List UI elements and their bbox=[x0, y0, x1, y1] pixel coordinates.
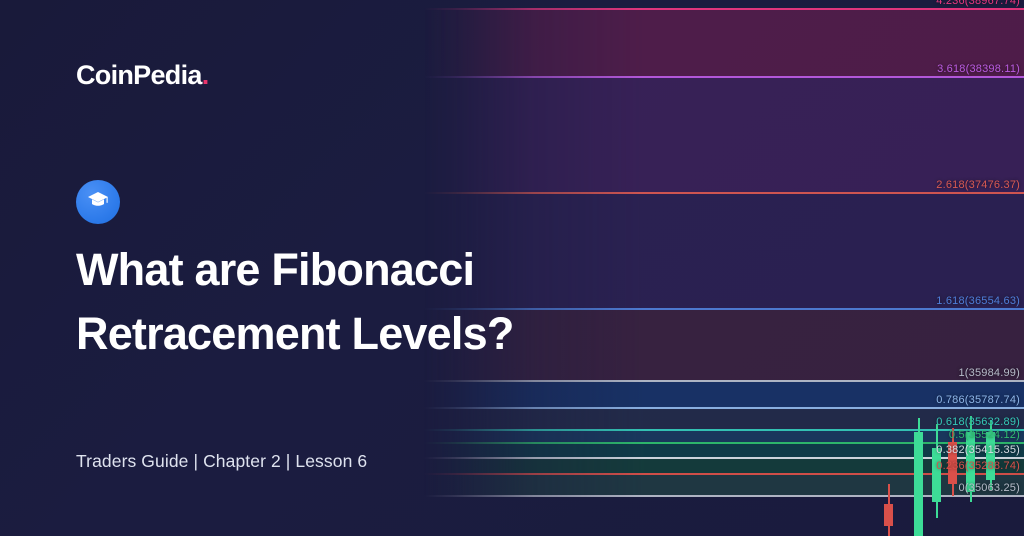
fib-level-line bbox=[424, 76, 1024, 78]
fib-band bbox=[424, 76, 1024, 192]
breadcrumb: Traders Guide | Chapter 2 | Lesson 6 bbox=[76, 451, 367, 472]
candle-body bbox=[884, 504, 893, 526]
fib-level-label: 4.236(38967.74) bbox=[936, 0, 1020, 7]
fib-level-label: 1.618(36554.63) bbox=[936, 295, 1020, 307]
fib-level-label: 2.618(37476.37) bbox=[936, 179, 1020, 191]
brand-dot: . bbox=[202, 60, 209, 90]
fib-level-label: 0.786(35787.74) bbox=[936, 394, 1020, 406]
fib-level-label: 0.382(35415.35) bbox=[936, 444, 1020, 456]
fib-level-label: 0.618(35632.89) bbox=[936, 416, 1020, 428]
fib-band bbox=[424, 8, 1024, 76]
fib-level-line bbox=[424, 8, 1024, 10]
candle-body bbox=[932, 448, 941, 502]
brand-logo[interactable]: CoinPedia. bbox=[76, 60, 209, 91]
brand-name: CoinPedia bbox=[76, 60, 202, 90]
fib-level-label: 0.5(35524.12) bbox=[949, 429, 1020, 441]
lesson-banner: 4.236(38967.74)3.618(38398.11)2.618(3747… bbox=[0, 0, 1024, 536]
page-title: What are Fibonacci Retracement Levels? bbox=[76, 238, 636, 366]
candle-body bbox=[914, 432, 923, 536]
graduation-cap-icon bbox=[86, 188, 110, 217]
fib-level-label: 0(35063.25) bbox=[958, 482, 1020, 494]
fib-level-line bbox=[424, 192, 1024, 194]
fib-level-label: 0.236(35288.74) bbox=[936, 460, 1020, 472]
fib-level-label: 1(35984.99) bbox=[958, 367, 1020, 379]
graduation-cap-badge bbox=[76, 180, 120, 224]
fib-level-label: 3.618(38398.11) bbox=[937, 63, 1020, 75]
